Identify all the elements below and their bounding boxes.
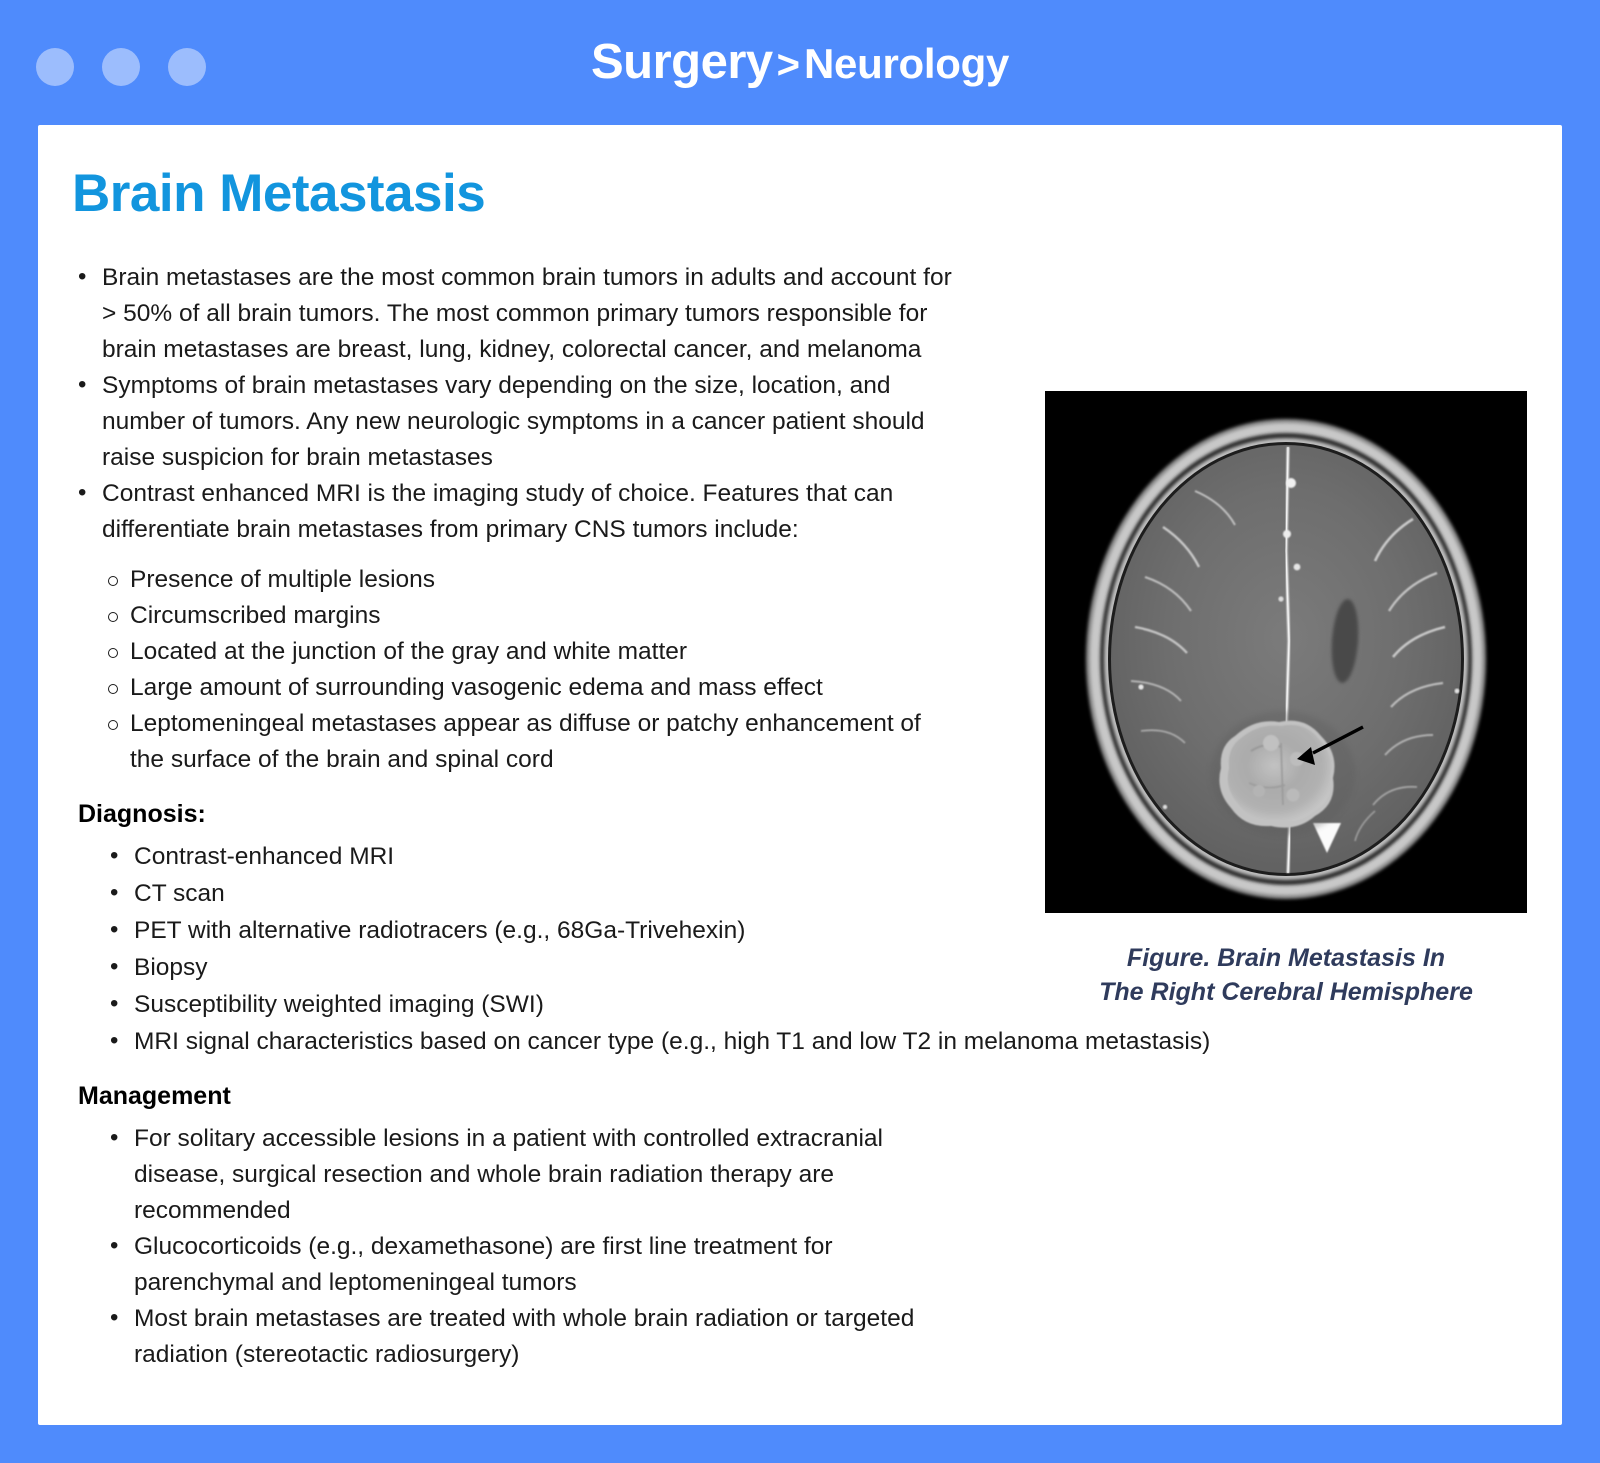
management-list: For solitary accessible lesions in a pat…: [106, 1121, 952, 1373]
list-item: Located at the junction of the gray and …: [100, 634, 952, 670]
diagnosis-list: Contrast-enhanced MRI CT scan PET with a…: [106, 839, 952, 1060]
list-item: Leptomeningeal metastases appear as diff…: [100, 706, 952, 778]
list-item: Contrast enhanced MRI is the imaging stu…: [72, 476, 952, 548]
list-item: Most brain metastases are treated with w…: [106, 1301, 952, 1373]
management-heading: Management: [78, 1082, 952, 1111]
list-item: Brain metastases are the most common bra…: [72, 260, 952, 368]
breadcrumb-item-surgery[interactable]: Surgery: [591, 35, 773, 89]
breadcrumb-separator-icon: >: [773, 43, 804, 87]
overview-list: Brain metastases are the most common bra…: [72, 260, 952, 548]
mri-features-list: Presence of multiple lesions Circumscrib…: [100, 562, 952, 778]
list-item: Biopsy: [106, 950, 952, 986]
brain-mri-image: [1045, 391, 1527, 913]
list-item: Glucocorticoids (e.g., dexamethasone) ar…: [106, 1229, 952, 1301]
list-item: Contrast-enhanced MRI: [106, 839, 952, 875]
list-item: PET with alternative radiotracers (e.g.,…: [106, 913, 952, 949]
figure-caption-line-2: The Right Cerebral Hemisphere: [1099, 978, 1473, 1006]
diagnosis-heading: Diagnosis:: [78, 800, 952, 829]
list-item: Presence of multiple lesions: [100, 562, 952, 598]
content-card: Brain Metastasis Brain metastases are th…: [38, 125, 1562, 1425]
list-item: Susceptibility weighted imaging (SWI): [106, 987, 952, 1023]
list-item: Large amount of surrounding vasogenic ed…: [100, 670, 952, 706]
figure-caption-line-1: Figure. Brain Metastasis In: [1127, 944, 1445, 972]
breadcrumb-item-neurology[interactable]: Neurology: [804, 40, 1009, 87]
list-item: MRI signal characteristics based on canc…: [106, 1024, 952, 1060]
breadcrumb: Surgery>Neurology: [0, 34, 1600, 90]
list-item: Circumscribed margins: [100, 598, 952, 634]
figure-block: Figure. Brain Metastasis In The Right Ce…: [1045, 391, 1527, 1009]
window-titlebar: Surgery>Neurology: [0, 0, 1600, 125]
figure-caption: Figure. Brain Metastasis In The Right Ce…: [1045, 941, 1527, 1009]
page-title: Brain Metastasis: [72, 163, 485, 224]
list-item: For solitary accessible lesions in a pat…: [106, 1121, 952, 1229]
text-column: Brain metastases are the most common bra…: [72, 260, 952, 1373]
list-item: Symptoms of brain metastases vary depend…: [72, 368, 952, 476]
list-item: CT scan: [106, 876, 952, 912]
